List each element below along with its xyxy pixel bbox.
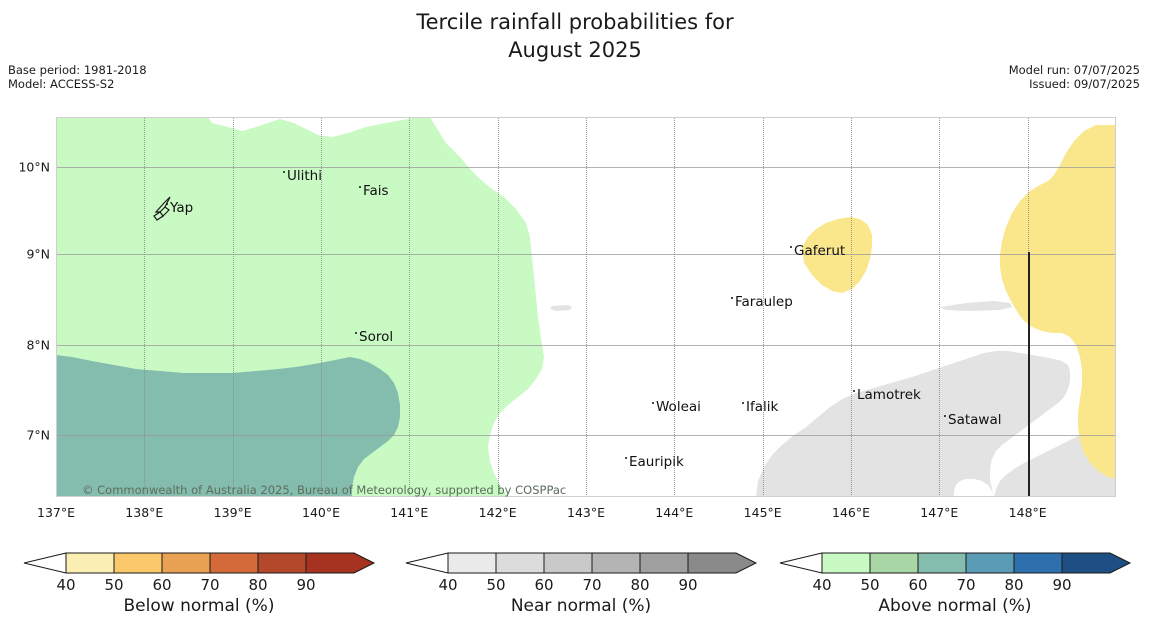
colorbar-near-normal-ticks: 40 50 60 70 80 90	[396, 576, 766, 596]
cbar-tick-40: 40	[812, 576, 831, 594]
cbar-cap-left	[24, 553, 66, 573]
x-tick-144: 144°E	[655, 505, 693, 520]
gridline-v-147	[939, 117, 940, 497]
colorbar-below-normal-ticks: 40 50 60 70 80 90	[14, 576, 384, 596]
colorbar-near-normal: 40 50 60 70 80 90 Near normal (%)	[396, 536, 766, 636]
gridline-v-137	[56, 117, 57, 497]
y-tick-10N: 10°N	[8, 160, 50, 175]
cbar-tick-50: 50	[860, 576, 879, 594]
place-marker-icon	[355, 332, 357, 334]
x-tick-137: 137°E	[37, 505, 75, 520]
place-label-woleai: Woleai	[652, 399, 701, 415]
cbar-tick-80: 80	[1004, 576, 1023, 594]
page-title: Tercile rainfall probabilities for Augus…	[0, 8, 1150, 64]
gridline-v-141	[409, 117, 410, 497]
place-marker-icon	[166, 203, 168, 205]
cbar-tick-50: 50	[486, 576, 505, 594]
gridline-v-142	[498, 117, 499, 497]
metadata-left: Base period: 1981-2018 Model: ACCESS-S2	[8, 63, 147, 91]
place-marker-icon	[790, 246, 792, 248]
place-label-sorol: Sorol	[355, 329, 393, 345]
cbar-seg-3	[592, 553, 640, 573]
place-marker-icon	[625, 457, 627, 459]
place-marker-icon	[652, 402, 654, 404]
title-line-2: August 2025	[0, 36, 1150, 64]
colorbar-near-normal-label: Near normal (%)	[396, 596, 766, 616]
x-tick-143: 143°E	[567, 505, 605, 520]
place-marker-icon	[359, 186, 361, 188]
cbar-seg-4	[640, 553, 688, 573]
x-tick-147: 147°E	[920, 505, 958, 520]
cbar-tick-60: 60	[534, 576, 553, 594]
cbar-seg-0	[448, 553, 496, 573]
place-label-eauripik: Eauripik	[625, 454, 684, 470]
x-tick-145: 145°E	[744, 505, 782, 520]
cbar-seg-3	[210, 553, 258, 573]
place-label-faraulep: Faraulep	[731, 294, 793, 310]
cbar-seg-0	[66, 553, 114, 573]
cbar-seg-1	[114, 553, 162, 573]
place-marker-icon	[283, 171, 285, 173]
cbar-cap-right	[1062, 553, 1130, 573]
gridline-v-139	[233, 117, 234, 497]
model-run-text: Model run: 07/07/2025	[1009, 63, 1140, 77]
place-label-fais: Fais	[359, 183, 389, 199]
cbar-seg-2	[162, 553, 210, 573]
x-tick-146: 146°E	[832, 505, 870, 520]
gridline-v-138	[144, 117, 145, 497]
x-tick-148: 148°E	[1009, 505, 1047, 520]
cbar-cap-left	[780, 553, 822, 573]
cbar-cap-left	[406, 553, 448, 573]
cbar-seg-3	[966, 553, 1014, 573]
cbar-seg-2	[544, 553, 592, 573]
cbar-tick-60: 60	[152, 576, 171, 594]
cbar-tick-90: 90	[678, 576, 697, 594]
x-tick-139: 139°E	[214, 505, 252, 520]
cbar-tick-70: 70	[582, 576, 601, 594]
model-text: Model: ACCESS-S2	[8, 77, 147, 91]
colorbar-below-normal-label: Below normal (%)	[14, 596, 384, 616]
colorbar-below-normal-swatches	[14, 536, 384, 578]
cbar-seg-4	[1014, 553, 1062, 573]
cbar-cap-right	[306, 553, 374, 573]
colorbar-above-normal-ticks: 40 50 60 70 80 90	[770, 576, 1140, 596]
colorbar-above-normal-label: Above normal (%)	[770, 596, 1140, 616]
y-tick-9N: 9°N	[8, 247, 50, 262]
metadata-right: Model run: 07/07/2025 Issued: 09/07/2025	[1009, 63, 1140, 91]
meridian-148E-highlight	[1028, 252, 1030, 497]
x-tick-138: 138°E	[125, 505, 163, 520]
place-marker-icon	[853, 390, 855, 392]
base-period-text: Base period: 1981-2018	[8, 63, 147, 77]
cbar-tick-90: 90	[1052, 576, 1071, 594]
cbar-seg-1	[496, 553, 544, 573]
copyright-text: © Commonwealth of Australia 2025, Bureau…	[82, 483, 566, 497]
place-marker-icon	[731, 297, 733, 299]
colorbar-below-normal: 40 50 60 70 80 90 Below normal (%)	[14, 536, 384, 636]
y-tick-7N: 7°N	[8, 428, 50, 443]
title-line-1: Tercile rainfall probabilities for	[0, 8, 1150, 36]
place-label-lamotrek: Lamotrek	[853, 387, 921, 403]
place-label-gaferut: Gaferut	[790, 243, 845, 259]
colorbar-above-normal: 40 50 60 70 80 90 Above normal (%)	[770, 536, 1140, 636]
place-label-satawal: Satawal	[944, 412, 1001, 428]
cbar-seg-2	[918, 553, 966, 573]
place-marker-icon	[742, 402, 744, 404]
cbar-tick-80: 80	[248, 576, 267, 594]
cbar-seg-0	[822, 553, 870, 573]
gridline-h-9N	[56, 254, 1116, 255]
cbar-tick-40: 40	[56, 576, 75, 594]
y-tick-8N: 8°N	[8, 338, 50, 353]
gridline-v-143	[586, 117, 587, 497]
gridline-h-10N	[56, 167, 1116, 168]
gridline-h-8N	[56, 345, 1116, 346]
cbar-seg-4	[258, 553, 306, 573]
issued-text: Issued: 09/07/2025	[1009, 77, 1140, 91]
region-above-normal-60-70	[56, 355, 400, 497]
gridline-h-7N	[56, 435, 1116, 436]
region-grey-sliver-east	[940, 301, 1012, 311]
colorbar-near-normal-swatches	[396, 536, 766, 578]
cbar-tick-90: 90	[296, 576, 315, 594]
x-tick-140: 140°E	[302, 505, 340, 520]
cbar-tick-50: 50	[104, 576, 123, 594]
cbar-tick-80: 80	[630, 576, 649, 594]
x-tick-141: 141°E	[390, 505, 428, 520]
cbar-tick-70: 70	[956, 576, 975, 594]
x-tick-142: 142°E	[479, 505, 517, 520]
colorbar-above-normal-swatches	[770, 536, 1140, 578]
place-label-ifalik: Ifalik	[742, 399, 778, 415]
cbar-tick-60: 60	[908, 576, 927, 594]
cbar-tick-40: 40	[438, 576, 457, 594]
place-label-ulithi: Ulithi	[283, 168, 322, 184]
cbar-cap-right	[688, 553, 756, 573]
place-marker-icon	[944, 415, 946, 417]
cbar-seg-1	[870, 553, 918, 573]
gridline-v-146	[851, 117, 852, 497]
cbar-tick-70: 70	[200, 576, 219, 594]
probability-map	[56, 117, 1116, 497]
place-label-yap: Yap	[166, 200, 193, 216]
region-grey-sliver-west	[550, 305, 572, 311]
gridline-v-144	[674, 117, 675, 497]
